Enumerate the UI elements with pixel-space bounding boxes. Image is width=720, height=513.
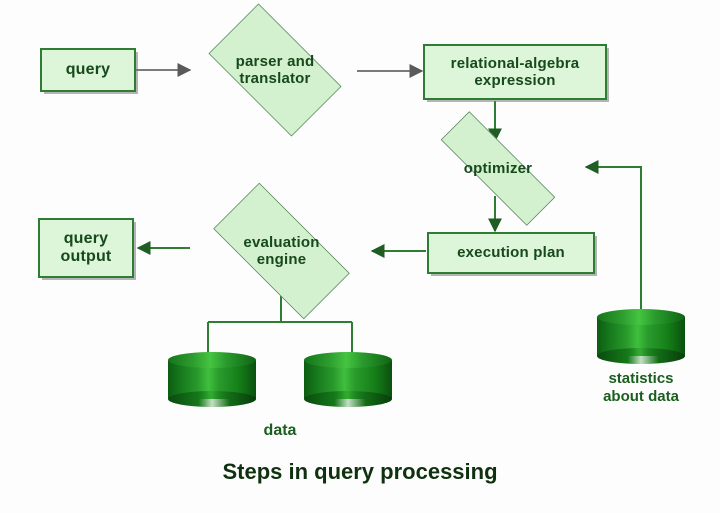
label-statistics-line1: statistics <box>608 370 673 387</box>
cylinder-top-ellipse <box>597 309 685 325</box>
node-execution-plan-label: execution plan <box>457 244 565 261</box>
database-cylinder-data-left[interactable] <box>168 352 256 407</box>
node-relational-algebra-label-line2: expression <box>474 72 555 89</box>
node-execution-plan[interactable]: execution plan <box>427 232 595 274</box>
node-relational-algebra-label-line1: relational-algebra <box>451 55 580 72</box>
cylinder-bottom-ellipse <box>597 348 685 364</box>
database-cylinder-statistics[interactable] <box>597 309 685 364</box>
node-relational-algebra-expression[interactable]: relational-algebra expression <box>423 44 607 100</box>
node-relational-algebra-label: relational-algebra expression <box>451 55 580 90</box>
diamond-shape <box>209 4 342 137</box>
cylinder-top-ellipse <box>304 352 392 368</box>
diagram-canvas: query parser and translator relational-a… <box>0 0 720 513</box>
node-query-output-label-line1: query <box>64 230 109 247</box>
cylinder-top-ellipse <box>168 352 256 368</box>
node-parser-and-translator[interactable]: parser and translator <box>192 20 358 120</box>
node-optimizer[interactable]: optimizer <box>412 140 584 197</box>
cylinder-bottom-ellipse <box>304 391 392 407</box>
cylinder-bottom-ellipse <box>168 391 256 407</box>
database-cylinder-data-right[interactable] <box>304 352 392 407</box>
label-statistics-line2: about data <box>603 388 679 405</box>
label-data: data <box>220 421 340 440</box>
node-query[interactable]: query <box>40 48 136 92</box>
node-query-output-label-line2: output <box>61 248 112 265</box>
node-query-label: query <box>66 61 111 79</box>
node-query-output[interactable]: query output <box>38 218 134 278</box>
label-statistics-about-data: statistics about data <box>581 370 701 406</box>
node-query-output-label: query output <box>61 230 112 267</box>
figure-title: Steps in query processing <box>0 459 720 485</box>
node-evaluation-engine[interactable]: evaluation engine <box>191 205 372 297</box>
